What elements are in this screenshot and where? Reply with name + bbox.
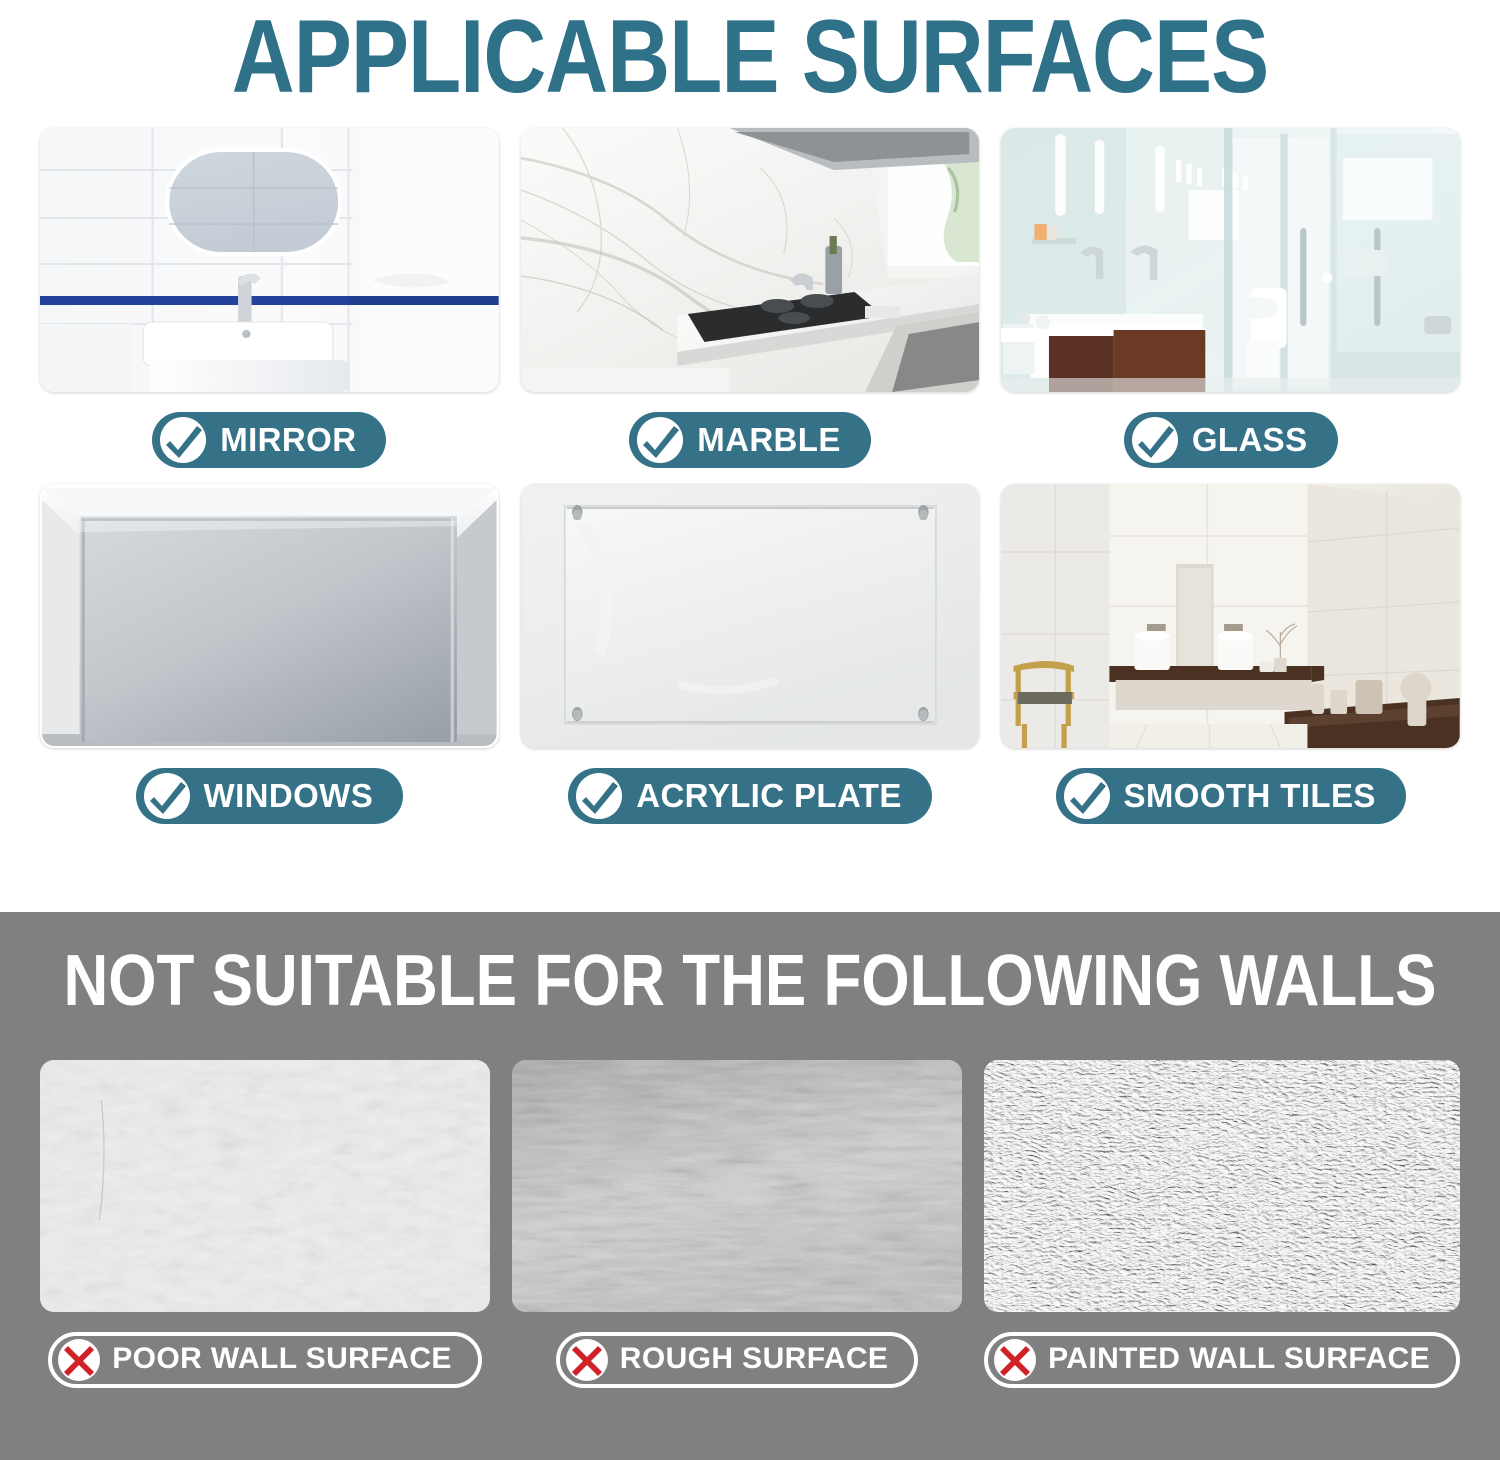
badge-row: POOR WALL SURFACE: [40, 1332, 490, 1388]
badge-label: WINDOWS: [204, 779, 374, 814]
badge-row: SMOOTH TILES: [1001, 768, 1460, 824]
badge-painted-wall-surface[interactable]: PAINTED WALL SURFACE: [984, 1332, 1460, 1388]
surface-card-windows: WINDOWS: [40, 484, 499, 824]
check-icon: [1130, 415, 1180, 465]
check-icon: [142, 771, 192, 821]
badge-label: ROUGH SURFACE: [620, 1344, 889, 1376]
rough-concrete-texture: [512, 1060, 962, 1312]
glass-shower-bathroom-photo: [1001, 128, 1460, 392]
bad-surface-card-poor-wall: POOR WALL SURFACE: [40, 1060, 490, 1388]
surface-card-glass: GLASS: [1001, 128, 1460, 468]
page-title: APPLICABLE SURFACES: [8, 0, 1493, 109]
badge-row: ACRYLIC PLATE: [521, 768, 980, 824]
x-icon: [992, 1337, 1038, 1383]
badge-label: POOR WALL SURFACE: [112, 1344, 452, 1376]
bad-surface-card-painted: PAINTED WALL SURFACE: [984, 1060, 1460, 1388]
infographic-page: APPLICABLE SURFACES: [0, 0, 1500, 1460]
not-suitable-section: NOT SUITABLE FOR THE FOLLOWING WALLS: [0, 912, 1500, 1460]
badge-label: MARBLE: [697, 423, 841, 458]
check-icon: [635, 415, 685, 465]
badge-mirror[interactable]: MIRROR: [152, 412, 386, 468]
x-icon: [564, 1337, 610, 1383]
badge-row: MIRROR: [40, 412, 499, 468]
badge-label: SMOOTH TILES: [1124, 779, 1376, 814]
badge-row: PAINTED WALL SURFACE: [984, 1332, 1460, 1388]
applicable-row-1: MIRROR: [0, 128, 1500, 468]
check-icon: [158, 415, 208, 465]
badge-row: GLASS: [1001, 412, 1460, 468]
stucco-painted-wall-texture: [984, 1060, 1460, 1312]
badge-smooth-tiles[interactable]: SMOOTH TILES: [1056, 768, 1406, 824]
badge-label: ACRYLIC PLATE: [636, 779, 902, 814]
surface-card-marble: MARBLE: [521, 128, 980, 468]
surface-card-mirror: MIRROR: [40, 128, 499, 468]
bad-surface-card-rough: ROUGH SURFACE: [512, 1060, 962, 1388]
not-suitable-title: NOT SUITABLE FOR THE FOLLOWING WALLS: [0, 946, 1500, 1018]
badge-row: MARBLE: [521, 412, 980, 468]
badge-label: MIRROR: [220, 423, 356, 458]
badge-acrylic-plate[interactable]: ACRYLIC PLATE: [568, 768, 932, 824]
check-icon: [574, 771, 624, 821]
check-icon: [1062, 771, 1112, 821]
not-suitable-row: POOR WALL SURFACE: [0, 1060, 1500, 1388]
clear-acrylic-plate-photo: [521, 484, 980, 748]
badge-label: GLASS: [1192, 423, 1308, 458]
x-icon: [56, 1337, 102, 1383]
poor-concrete-wall-texture: [40, 1060, 490, 1312]
surface-card-smooth-tiles: SMOOTH TILES: [1001, 484, 1460, 824]
applicable-surfaces-section: APPLICABLE SURFACES: [0, 0, 1500, 912]
marble-kitchen-backsplash-photo: [521, 128, 980, 392]
badge-row: WINDOWS: [40, 768, 499, 824]
surface-card-acrylic: ACRYLIC PLATE: [521, 484, 980, 824]
badge-windows[interactable]: WINDOWS: [136, 768, 404, 824]
badge-label: PAINTED WALL SURFACE: [1048, 1344, 1430, 1376]
badge-row: ROUGH SURFACE: [512, 1332, 962, 1388]
applicable-row-2: WINDOWS: [0, 484, 1500, 824]
bathroom-oval-mirror-photo: [40, 128, 499, 392]
badge-rough-surface[interactable]: ROUGH SURFACE: [556, 1332, 919, 1388]
badge-marble[interactable]: MARBLE: [629, 412, 871, 468]
badge-poor-wall-surface[interactable]: POOR WALL SURFACE: [48, 1332, 482, 1388]
smooth-tiled-bathroom-photo: [1001, 484, 1460, 748]
badge-glass[interactable]: GLASS: [1124, 412, 1338, 468]
framed-window-pane-photo: [40, 484, 499, 748]
